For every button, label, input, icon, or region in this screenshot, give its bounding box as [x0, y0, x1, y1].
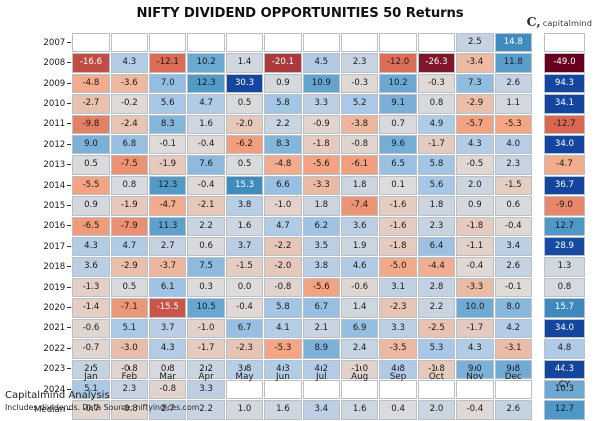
heat-cell-2015-cy: -9.0: [544, 196, 585, 215]
heat-cell-2014-nov: 2.0: [456, 176, 493, 195]
heat-cell-2020-nov: 10.0: [456, 298, 493, 317]
heat-cell-2013-aug: -6.1: [341, 155, 378, 174]
footer-analysis-credit: Capitalmind Analysis: [5, 389, 199, 402]
heat-cell-2007-jan: [72, 33, 109, 52]
heat-cell-2022-cy: 4.8: [544, 339, 585, 358]
heat-cell-2019-jun: -0.8: [264, 278, 301, 297]
heat-cell-2016-jan: -6.5: [72, 217, 109, 236]
column-gap: [533, 135, 543, 154]
column-tick-marks: [0, 366, 600, 371]
row-label-2010: 2010: [34, 94, 71, 113]
heat-cell-2013-feb: -7.5: [111, 155, 148, 174]
heat-cell-2015-jan: 0.9: [72, 196, 109, 215]
table-row: 2009-4.8-3.67.012.330.30.910.9-0.310.2-0…: [34, 74, 585, 93]
heat-cell-2017-dec: 3.4: [495, 237, 532, 256]
heat-cell-2014-feb: 0.8: [111, 176, 148, 195]
column-gap: [533, 339, 543, 358]
heat-cell-2014-cy: 36.7: [544, 176, 585, 195]
heat-cell-2013-jul: -5.6: [303, 155, 340, 174]
axis-label-dec: Dec: [505, 372, 522, 382]
heat-cell-2009-dec: 2.6: [495, 74, 532, 93]
heat-cell-2016-dec: -0.4: [495, 217, 532, 236]
heat-cell-2008-feb: 4.3: [111, 53, 148, 72]
chart-page: NIFTY DIVIDEND OPPORTUNITIES 50 Returns …: [0, 0, 600, 419]
column-gap: [533, 278, 543, 297]
table-row: 2011-9.8-2.48.31.6-2.02.2-0.9-3.80.74.9-…: [34, 115, 585, 134]
axis-tick-may: [245, 366, 246, 370]
heat-cell-2011-cy: -12.7: [544, 115, 585, 134]
row-label-2012: 2012: [34, 135, 71, 154]
heat-cell-2009-may: 30.3: [226, 74, 263, 93]
heat-cell-2015-oct: 1.8: [418, 196, 455, 215]
heat-cell-2018-feb: -2.9: [111, 257, 148, 276]
heat-cell-2019-aug: -0.6: [341, 278, 378, 297]
heat-cell-2015-mar: -4.7: [149, 196, 186, 215]
heat-cell-2007-jul: [303, 33, 340, 52]
heat-cell-2008-may: 1.4: [226, 53, 263, 72]
heat-cell-2017-jan: 4.3: [72, 237, 109, 256]
heat-cell-median-aug: 1.6: [341, 400, 378, 419]
heat-cell-2018-cy: 1.3: [544, 257, 585, 276]
heat-cell-2013-cy: -4.7: [544, 155, 585, 174]
heat-cell-2013-oct: 5.8: [418, 155, 455, 174]
heat-cell-2007-oct: [418, 33, 455, 52]
table-row: 2020-1.4-7.1-15.510.5-0.45.86.71.4-2.32.…: [34, 298, 585, 317]
table-row: 20130.5-7.5-1.97.60.5-4.8-5.6-6.16.55.8-…: [34, 155, 585, 174]
heat-cell-2016-jun: 4.7: [264, 217, 301, 236]
heat-cell-2008-aug: 2.3: [341, 53, 378, 72]
capitalmind-logo: C, capitalmind: [527, 16, 592, 29]
heat-cell-2022-dec: -3.1: [495, 339, 532, 358]
heat-cell-2011-dec: -5.3: [495, 115, 532, 134]
heat-cell-2008-dec: 11.8: [495, 53, 532, 72]
column-gap: [533, 53, 543, 72]
heat-cell-2010-jun: 5.8: [264, 94, 301, 113]
heat-cell-2012-mar: -0.1: [149, 135, 186, 154]
heat-cell-2011-may: -2.0: [226, 115, 263, 134]
heat-cell-2009-cy: 94.3: [544, 74, 585, 93]
heat-cell-2012-dec: 4.0: [495, 135, 532, 154]
heat-cell-2008-jun: -20.1: [264, 53, 301, 72]
heat-cell-2011-sep: 0.7: [379, 115, 416, 134]
column-gap: [533, 74, 543, 93]
heat-cell-2010-apr: 4.7: [187, 94, 224, 113]
heat-cell-2013-may: 0.5: [226, 155, 263, 174]
heat-cell-2011-feb: -2.4: [111, 115, 148, 134]
heat-cell-2020-sep: -2.3: [379, 298, 416, 317]
heat-cell-2021-oct: -2.5: [418, 319, 455, 338]
heat-cell-2015-feb: -1.9: [111, 196, 148, 215]
axis-label-apr: Apr: [199, 372, 214, 382]
capitalmind-wordmark: capitalmind: [543, 18, 592, 28]
heat-cell-2011-aug: -3.8: [341, 115, 378, 134]
heat-cell-median-jun: 1.6: [264, 400, 301, 419]
axis-label-cy: CY: [559, 380, 570, 390]
heat-cell-2010-cy: 34.1: [544, 94, 585, 113]
row-label-2016: 2016: [34, 217, 71, 236]
row-label-2011: 2011: [34, 115, 71, 134]
row-label-2008: 2008: [34, 53, 71, 72]
heat-cell-2014-may: 15.3: [226, 176, 263, 195]
heat-cell-2008-oct: -26.3: [418, 53, 455, 72]
table-row: 2019-1.30.56.10.30.0-0.8-5.6-0.63.12.8-3…: [34, 278, 585, 297]
heat-cell-2022-may: -2.3: [226, 339, 263, 358]
axis-tick-sep: [398, 366, 399, 370]
heat-cell-median-sep: 0.4: [379, 400, 416, 419]
table-row: 2016-6.5-7.911.32.21.64.76.23.6-1.62.3-1…: [34, 217, 585, 236]
heat-cell-2015-may: 3.8: [226, 196, 263, 215]
heat-cell-median-dec: 2.6: [495, 400, 532, 419]
heat-cell-2009-jul: 10.9: [303, 74, 340, 93]
heat-cell-2014-aug: 1.8: [341, 176, 378, 195]
heat-cell-2018-oct: -4.4: [418, 257, 455, 276]
row-label-2009: 2009: [34, 74, 71, 93]
heat-cell-2020-dec: 8.0: [495, 298, 532, 317]
heat-cell-2012-jul: -1.8: [303, 135, 340, 154]
heat-cell-2017-jun: -2.2: [264, 237, 301, 256]
heat-cell-2017-sep: -1.8: [379, 237, 416, 256]
column-gap: [533, 196, 543, 215]
axis-tick-aug: [360, 366, 361, 370]
heat-cell-2018-nov: -0.4: [456, 257, 493, 276]
axis-label-nov: Nov: [466, 372, 483, 382]
heat-cell-2017-mar: 2.7: [149, 237, 186, 256]
heat-cell-2009-jan: -4.8: [72, 74, 109, 93]
heat-cell-2009-sep: 10.2: [379, 74, 416, 93]
heat-cell-2007-cy: [544, 33, 585, 52]
heat-cell-2018-aug: 4.6: [341, 257, 378, 276]
axis-label-jan: Jan: [84, 372, 98, 382]
heat-cell-2015-apr: -2.1: [187, 196, 224, 215]
column-gap: [533, 319, 543, 338]
heat-cell-2018-jun: -2.0: [264, 257, 301, 276]
table-row: 2010-2.7-0.25.64.70.55.83.35.29.10.8-2.9…: [34, 94, 585, 113]
heat-cell-2007-aug: [341, 33, 378, 52]
footer-data-source: Includes dividends. Data Source: niftyin…: [5, 402, 199, 413]
row-label-2019: 2019: [34, 278, 71, 297]
heat-cell-2022-jan: -0.7: [72, 339, 109, 358]
heat-cell-2011-apr: 1.6: [187, 115, 224, 134]
heat-cell-2019-may: 0.0: [226, 278, 263, 297]
heat-cell-2016-aug: 3.6: [341, 217, 378, 236]
column-gap: [533, 94, 543, 113]
heat-cell-2021-mar: 3.7: [149, 319, 186, 338]
heat-cell-2022-oct: 5.3: [418, 339, 455, 358]
heat-cell-2008-nov: -3.4: [456, 53, 493, 72]
column-gap: [533, 155, 543, 174]
heat-cell-2020-jun: 5.8: [264, 298, 301, 317]
table-row: 2021-0.65.13.7-1.06.74.12.16.93.3-2.5-1.…: [34, 319, 585, 338]
heat-cell-2015-jun: -1.0: [264, 196, 301, 215]
axis-tick-mar: [168, 366, 169, 370]
heat-cell-2013-jan: 0.5: [72, 155, 109, 174]
heat-cell-2019-dec: -0.1: [495, 278, 532, 297]
heat-cell-2009-oct: -0.3: [418, 74, 455, 93]
heat-cell-2020-jul: 6.7: [303, 298, 340, 317]
heat-cell-2014-jan: -5.5: [72, 176, 109, 195]
heat-cell-2015-aug: -7.4: [341, 196, 378, 215]
axis-tick-oct: [436, 366, 437, 370]
heat-cell-2010-may: 0.5: [226, 94, 263, 113]
heat-cell-2012-jan: 9.0: [72, 135, 109, 154]
heat-cell-2019-jan: -1.3: [72, 278, 109, 297]
heat-cell-2016-sep: -1.6: [379, 217, 416, 236]
heat-cell-2017-cy: 28.9: [544, 237, 585, 256]
heat-cell-2020-feb: -7.1: [111, 298, 148, 317]
heat-cell-2015-nov: 0.9: [456, 196, 493, 215]
table-row: 20183.6-2.9-3.77.5-1.5-2.03.84.6-5.0-4.4…: [34, 257, 585, 276]
column-gap: [533, 237, 543, 256]
heat-cell-2016-cy: 12.7: [544, 217, 585, 236]
heat-cell-2018-jan: 3.6: [72, 257, 109, 276]
axis-label-oct: Oct: [429, 372, 444, 382]
column-gap: [533, 298, 543, 317]
row-label-2018: 2018: [34, 257, 71, 276]
column-gap: [533, 217, 543, 236]
row-label-2015: 2015: [34, 196, 71, 215]
heat-cell-2013-dec: 2.3: [495, 155, 532, 174]
heat-cell-2014-dec: -1.5: [495, 176, 532, 195]
page-title: NIFTY DIVIDEND OPPORTUNITIES 50 Returns: [0, 6, 600, 21]
heat-cell-2019-apr: 0.3: [187, 278, 224, 297]
heat-cell-2021-jan: -0.6: [72, 319, 109, 338]
heat-cell-2021-dec: 4.2: [495, 319, 532, 338]
heat-cell-2018-jul: 3.8: [303, 257, 340, 276]
heat-cell-2012-jun: 8.3: [264, 135, 301, 154]
heat-cell-2020-mar: -15.5: [149, 298, 186, 317]
heat-cell-median-nov: -0.4: [456, 400, 493, 419]
heat-cell-2019-sep: 3.1: [379, 278, 416, 297]
heat-cell-2016-oct: 2.3: [418, 217, 455, 236]
heat-cell-2021-aug: 6.9: [341, 319, 378, 338]
heat-cell-2011-mar: 8.3: [149, 115, 186, 134]
table-row: 2022-0.7-3.04.3-1.7-2.3-5.38.92.4-3.55.3…: [34, 339, 585, 358]
heat-cell-2016-may: 1.6: [226, 217, 263, 236]
heat-cell-2009-aug: -0.3: [341, 74, 378, 93]
heat-cell-2010-jul: 3.3: [303, 94, 340, 113]
heat-cell-2010-nov: -2.9: [456, 94, 493, 113]
heat-cell-2009-jun: 0.9: [264, 74, 301, 93]
heat-cell-2008-apr: 10.2: [187, 53, 224, 72]
heat-cell-2017-jul: 3.5: [303, 237, 340, 256]
heat-cell-2018-mar: -3.7: [149, 257, 186, 276]
row-label-2021: 2021: [34, 319, 71, 338]
heat-cell-2013-apr: 7.6: [187, 155, 224, 174]
heat-cell-2008-cy: -49.0: [544, 53, 585, 72]
heat-cell-2021-jul: 2.1: [303, 319, 340, 338]
axis-label-aug: Aug: [351, 372, 368, 382]
heat-cell-2020-oct: 2.2: [418, 298, 455, 317]
heat-cell-median-jul: 3.4: [303, 400, 340, 419]
heat-cell-2016-jul: 6.2: [303, 217, 340, 236]
heat-cell-2018-dec: 2.6: [495, 257, 532, 276]
heat-cell-2010-sep: 9.1: [379, 94, 416, 113]
heat-cell-2013-sep: 6.5: [379, 155, 416, 174]
heat-cell-2015-dec: 0.6: [495, 196, 532, 215]
header: NIFTY DIVIDEND OPPORTUNITIES 50 Returns …: [0, 6, 600, 30]
heat-cell-2021-apr: -1.0: [187, 319, 224, 338]
heat-cell-2022-apr: -1.7: [187, 339, 224, 358]
heat-cell-2016-nov: -1.8: [456, 217, 493, 236]
heat-cell-2007-feb: [111, 33, 148, 52]
heat-cell-2019-jul: -5.6: [303, 278, 340, 297]
table-row: 2014-5.50.812.3-0.415.36.6-3.31.80.15.62…: [34, 176, 585, 195]
heatmap-grid: 20072.514.82008-16.64.3-12.110.21.4-20.1…: [0, 32, 600, 421]
heat-cell-2014-oct: 5.6: [418, 176, 455, 195]
heat-cell-2022-aug: 2.4: [341, 339, 378, 358]
heat-cell-2008-mar: -12.1: [149, 53, 186, 72]
heat-cell-2021-cy: 34.0: [544, 319, 585, 338]
heat-cell-2015-jul: 1.8: [303, 196, 340, 215]
heat-cell-2007-jun: [264, 33, 301, 52]
heat-cell-2018-apr: 7.5: [187, 257, 224, 276]
heat-cell-2014-jun: 6.6: [264, 176, 301, 195]
heat-cell-2016-mar: 11.3: [149, 217, 186, 236]
column-gap: [533, 400, 543, 419]
heat-cell-2007-mar: [149, 33, 186, 52]
heat-cell-2008-jul: 4.5: [303, 53, 340, 72]
axis-tick-jan: [91, 366, 92, 370]
heat-cell-2010-dec: 1.1: [495, 94, 532, 113]
heat-cell-2016-feb: -7.9: [111, 217, 148, 236]
table-row: 20174.34.72.70.63.7-2.23.51.9-1.86.4-1.1…: [34, 237, 585, 256]
heat-cell-2010-oct: 0.8: [418, 94, 455, 113]
heat-cell-2013-nov: -0.5: [456, 155, 493, 174]
axis-tick-cy: [564, 366, 565, 370]
heat-cell-2017-feb: 4.7: [111, 237, 148, 256]
heat-cell-2021-sep: 3.3: [379, 319, 416, 338]
heat-cell-2011-nov: -5.7: [456, 115, 493, 134]
heat-cell-2012-cy: 34.0: [544, 135, 585, 154]
heat-cell-2019-mar: 6.1: [149, 278, 186, 297]
table-row: 2008-16.64.3-12.110.21.4-20.14.52.3-12.0…: [34, 53, 585, 72]
heat-cell-2010-mar: 5.6: [149, 94, 186, 113]
heat-cell-2007-sep: [379, 33, 416, 52]
heat-cell-2022-sep: -3.5: [379, 339, 416, 358]
heat-cell-2013-mar: -1.9: [149, 155, 186, 174]
table-row: 20129.06.8-0.1-0.4-6.28.3-1.8-0.89.6-1.7…: [34, 135, 585, 154]
heat-cell-2022-jul: 8.9: [303, 339, 340, 358]
heat-cell-2007-dec: 14.8: [495, 33, 532, 52]
heat-cell-2012-apr: -0.4: [187, 135, 224, 154]
heat-cell-2022-jun: -5.3: [264, 339, 301, 358]
row-label-2014: 2014: [34, 176, 71, 195]
axis-label-may: May: [235, 372, 253, 382]
heat-cell-2007-nov: 2.5: [456, 33, 493, 52]
heat-cell-2011-jul: -0.9: [303, 115, 340, 134]
heat-cell-2017-aug: 1.9: [341, 237, 378, 256]
heat-cell-2010-feb: -0.2: [111, 94, 148, 113]
heat-cell-2021-nov: -1.7: [456, 319, 493, 338]
column-gap: [533, 257, 543, 276]
row-label-2007: 2007: [34, 33, 71, 52]
heat-cell-2007-may: [226, 33, 263, 52]
axis-tick-apr: [206, 366, 207, 370]
heat-cell-2011-jan: -9.8: [72, 115, 109, 134]
heat-cell-2009-mar: 7.0: [149, 74, 186, 93]
axis-label-mar: Mar: [159, 372, 176, 382]
column-gap: [533, 176, 543, 195]
axis-label-jun: Jun: [276, 372, 290, 382]
heat-cell-2020-jan: -1.4: [72, 298, 109, 317]
heat-cell-2012-oct: -1.7: [418, 135, 455, 154]
heat-cell-2012-sep: 9.6: [379, 135, 416, 154]
heat-cell-2019-cy: 0.8: [544, 278, 585, 297]
heat-cell-2008-sep: -12.0: [379, 53, 416, 72]
footer: Capitalmind Analysis Includes dividends.…: [5, 389, 199, 413]
heat-cell-2009-nov: 7.3: [456, 74, 493, 93]
column-gap: [533, 33, 543, 52]
column-gap: [533, 115, 543, 134]
heat-cell-2022-nov: 4.3: [456, 339, 493, 358]
heat-cell-2017-nov: -1.1: [456, 237, 493, 256]
axis-label-sep: Sep: [390, 372, 407, 382]
axis-tick-jul: [321, 366, 322, 370]
heat-cell-2017-may: 3.7: [226, 237, 263, 256]
heat-cell-2016-apr: 2.2: [187, 217, 224, 236]
heat-cell-2014-apr: -0.4: [187, 176, 224, 195]
heat-cell-2022-mar: 4.3: [149, 339, 186, 358]
heat-cell-2020-apr: 10.5: [187, 298, 224, 317]
heat-cell-2008-jan: -16.6: [72, 53, 109, 72]
heat-cell-2015-sep: -1.6: [379, 196, 416, 215]
heat-cell-median-oct: 2.0: [418, 400, 455, 419]
heat-cell-2017-apr: 0.6: [187, 237, 224, 256]
heat-cell-2019-feb: 0.5: [111, 278, 148, 297]
axis-tick-feb: [129, 366, 130, 370]
heat-cell-2014-jul: -3.3: [303, 176, 340, 195]
row-label-2017: 2017: [34, 237, 71, 256]
heat-cell-2017-oct: 6.4: [418, 237, 455, 256]
heat-cell-2011-jun: 2.2: [264, 115, 301, 134]
axis-label-jul: Jul: [316, 372, 327, 382]
heat-cell-median-cy: 12.7: [544, 400, 585, 419]
heat-cell-2012-aug: -0.8: [341, 135, 378, 154]
heat-cell-2019-oct: 2.8: [418, 278, 455, 297]
heat-cell-2012-may: -6.2: [226, 135, 263, 154]
heat-cell-2011-oct: 4.9: [418, 115, 455, 134]
heat-cell-2019-nov: -3.3: [456, 278, 493, 297]
heat-cell-2020-may: -0.4: [226, 298, 263, 317]
heat-cell-2022-feb: -3.0: [111, 339, 148, 358]
heat-cell-2014-sep: 0.1: [379, 176, 416, 195]
capitalmind-mark-icon: C,: [527, 16, 541, 29]
axis-tick-nov: [475, 366, 476, 370]
heat-cell-2021-may: 6.7: [226, 319, 263, 338]
axis-label-feb: Feb: [122, 372, 138, 382]
heat-cell-median-may: 1.0: [226, 400, 263, 419]
heatmap-table: 20072.514.82008-16.64.3-12.110.21.4-20.1…: [33, 32, 586, 421]
axis-tick-dec: [513, 366, 514, 370]
heat-cell-2010-aug: 5.2: [341, 94, 378, 113]
heat-cell-2018-may: -1.5: [226, 257, 263, 276]
heat-cell-2012-feb: 6.8: [111, 135, 148, 154]
heat-cell-2012-nov: 4.3: [456, 135, 493, 154]
row-label-2022: 2022: [34, 339, 71, 358]
heat-cell-2014-mar: 12.3: [149, 176, 186, 195]
heat-cell-2013-jun: -4.8: [264, 155, 301, 174]
heat-cell-2010-jan: -2.7: [72, 94, 109, 113]
heat-cell-2009-apr: 12.3: [187, 74, 224, 93]
heat-cell-2021-jun: 4.1: [264, 319, 301, 338]
heat-cell-2021-feb: 5.1: [111, 319, 148, 338]
heat-cell-2020-aug: 1.4: [341, 298, 378, 317]
axis-tick-jun: [283, 366, 284, 370]
heat-cell-2007-apr: [187, 33, 224, 52]
heat-cell-2009-feb: -3.6: [111, 74, 148, 93]
heat-cell-2018-sep: -5.0: [379, 257, 416, 276]
heat-cell-2020-cy: 15.7: [544, 298, 585, 317]
